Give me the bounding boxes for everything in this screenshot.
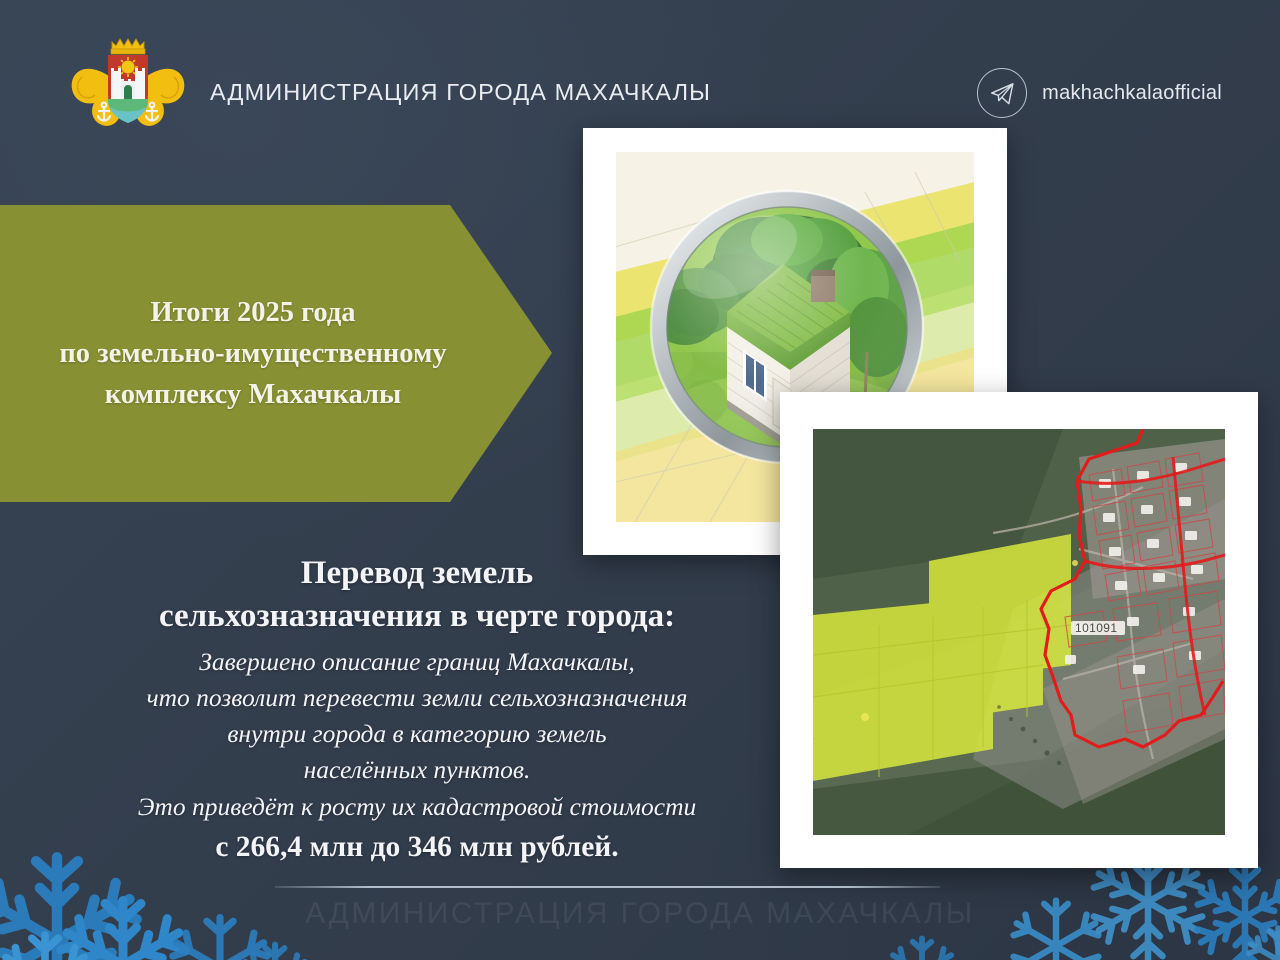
- footer-watermark: АДМИНИСТРАЦИЯ ГОРОДА МАХАЧКАЛЫ: [0, 897, 1280, 931]
- banner-line-1: Итоги 2025 года: [20, 292, 486, 333]
- slide-canvas: АДМИНИСТРАЦИЯ ГОРОДА МАХАЧКАЛЫ makhachka…: [0, 0, 1280, 960]
- title-banner: Итоги 2025 года по земельно-имущественно…: [0, 205, 552, 502]
- telegram-link[interactable]: makhachkalaofficial: [977, 68, 1222, 118]
- paragraph-line: населённых пунктов.: [42, 752, 792, 788]
- snowflake-icon: [880, 930, 964, 960]
- snowflake-icon: [232, 936, 318, 960]
- amount-highlight: с 266,4 млн до 346 млн рублей.: [42, 828, 792, 866]
- main-copy: Перевод земель сельхозназначения в черте…: [42, 552, 792, 866]
- paragraph-line: внутри города в категорию земель: [42, 716, 792, 752]
- cadastral-map-photo: 101091: [813, 429, 1225, 835]
- footer-divider: [275, 886, 940, 888]
- cadastral-map-photo-frame: 101091: [780, 392, 1258, 868]
- main-heading: Перевод земель сельхозназначения в черте…: [42, 552, 792, 638]
- title-banner-text: Итоги 2025 года по земельно-имущественно…: [0, 292, 552, 416]
- slide-header: АДМИНИСТРАЦИЯ ГОРОДА МАХАЧКАЛЫ makhachka…: [0, 0, 1280, 145]
- main-heading-line-2: сельхозназначения в черте города:: [159, 598, 675, 634]
- telegram-icon[interactable]: [977, 68, 1027, 118]
- paragraph-line: Это приведёт к росту их кадастровой стои…: [42, 789, 792, 825]
- banner-line-2: по земельно-имущественному: [20, 333, 486, 374]
- paragraph-line: что позволит перевести земли сельхозназн…: [42, 680, 792, 716]
- organization-title: АДМИНИСТРАЦИЯ ГОРОДА МАХАЧКАЛЫ: [210, 79, 711, 106]
- main-heading-line-1: Перевод земель: [301, 555, 533, 591]
- coat-of-arms-icon: [62, 33, 194, 145]
- main-paragraph: Завершено описание границ Махачкалы, что…: [42, 644, 792, 825]
- telegram-handle[interactable]: makhachkalaofficial: [1042, 82, 1222, 105]
- svg-text:101091: 101091: [1075, 621, 1117, 635]
- banner-line-3: комплексу Махачкалы: [20, 374, 486, 415]
- paragraph-line: Завершено описание границ Махачкалы,: [42, 644, 792, 680]
- parcel-number-label: 101091: [1071, 621, 1125, 635]
